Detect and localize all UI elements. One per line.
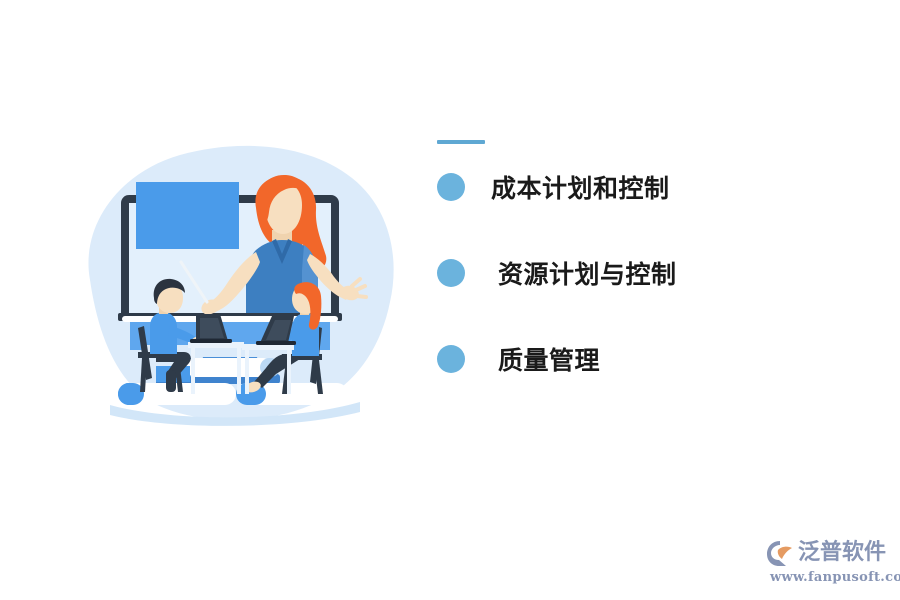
- bullet-dot-icon: [437, 173, 465, 201]
- slide-canvas: 成本计划和控制 资源计划与控制 质量管理 泛普软件 www.fanpusoft: [0, 0, 900, 600]
- desk-left-leg-l: [191, 348, 195, 394]
- brand-logo-top: 泛普软件: [766, 538, 886, 568]
- online-classroom-illustration: [60, 130, 400, 430]
- desk-right-leg-r: [287, 350, 291, 394]
- feature-label: 资源计划与控制: [498, 255, 677, 291]
- laptop-left-base: [190, 339, 232, 343]
- feature-item-cost-planning[interactable]: 成本计划和控制: [437, 144, 857, 230]
- feature-item-resource-planning[interactable]: 资源计划与控制: [437, 230, 857, 316]
- feature-list: 成本计划和控制 资源计划与控制 质量管理: [437, 144, 857, 402]
- feature-list-panel: 成本计划和控制 资源计划与控制 质量管理: [437, 132, 857, 402]
- feature-label: 质量管理: [498, 341, 600, 377]
- feature-item-quality-management[interactable]: 质量管理: [437, 316, 857, 402]
- desk-right-leg-l: [245, 350, 249, 394]
- monitor-frame-left: [121, 203, 126, 319]
- bullet-dot-icon: [437, 345, 465, 373]
- feature-label: 成本计划和控制: [491, 169, 670, 205]
- desk-left-leg-r: [237, 348, 241, 394]
- brand-logo[interactable]: 泛普软件 www.fanpusoft.com: [766, 538, 896, 590]
- student-left-shin: [166, 370, 176, 392]
- fanpu-logo-icon: [766, 539, 796, 567]
- laptop-right-base: [256, 341, 296, 345]
- bullet-dot-icon: [437, 259, 465, 287]
- monitor-frame-right: [334, 203, 339, 319]
- brand-url: www.fanpusoft.com: [770, 570, 900, 585]
- brand-wordmark: 泛普软件: [798, 542, 886, 564]
- presentation-board: [136, 182, 239, 249]
- illustration-svg: [60, 130, 400, 430]
